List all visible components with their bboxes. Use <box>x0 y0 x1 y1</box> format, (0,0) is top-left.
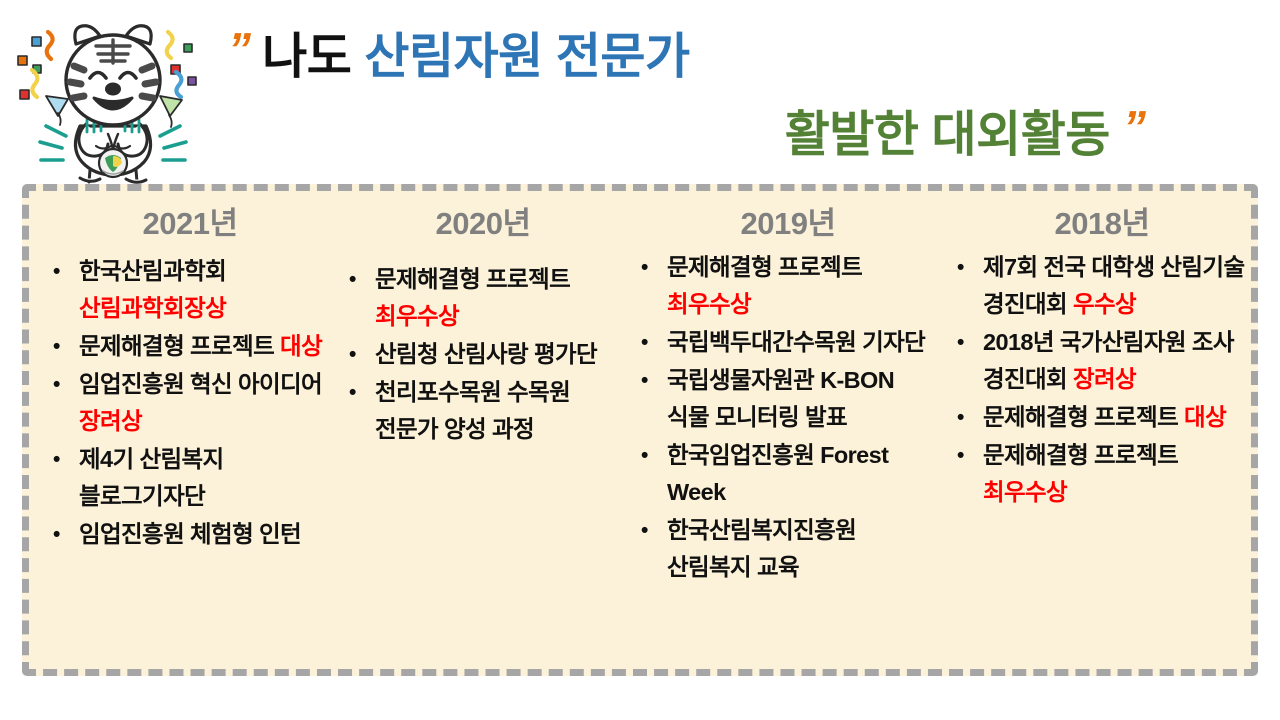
title-highlight-blue: 산림자원 전문가 <box>364 30 689 84</box>
year-column-2019: 2019년 문제해결형 프로젝트 최우수상국립백두대간수목원 기자단국립생물자원… <box>623 205 941 587</box>
achievement-text: 문제해결형 프로젝트 <box>79 333 280 359</box>
achievement-text: 문제해결형 프로젝트 <box>667 254 862 280</box>
celebrating-tiger-mascot-icon <box>8 8 218 188</box>
achievement-list-2019: 문제해결형 프로젝트 최우수상국립백두대간수목원 기자단국립생물자원관 K-BO… <box>635 249 941 586</box>
achievement-text: 문제해결형 프로젝트 <box>983 442 1178 468</box>
achievement-item: 제7회 전국 대학생 산림기술 경진대회 우수상 <box>951 249 1253 323</box>
achievement-text: 문제해결형 프로젝트 <box>983 404 1184 430</box>
achievement-item: 한국산림복지진흥원 산림복지 교육 <box>635 512 941 586</box>
achievement-text: 국립백두대간수목원 기자단 <box>667 329 925 355</box>
title-line-1: ” 나도 산림자원 전문가 <box>222 14 1262 92</box>
award-highlight: 장려상 <box>1073 366 1136 392</box>
award-highlight: 대상 <box>1184 404 1226 430</box>
achievement-list-2021: 한국산림과학회 산림과학회장상문제해결형 프로젝트 대상임업진흥원 혁신 아이디… <box>47 253 333 553</box>
achievement-list-2018: 제7회 전국 대학생 산림기술 경진대회 우수상2018년 국가산림자원 조사 … <box>951 249 1253 511</box>
achievement-item: 국립백두대간수목원 기자단 <box>635 324 941 361</box>
year-column-2020: 2020년 문제해결형 프로젝트 최우수상산림청 산림사랑 평가단천리포수목원 … <box>333 205 623 449</box>
achievement-text: 문제해결형 프로젝트 <box>375 266 570 292</box>
award-highlight: 산림과학회장상 <box>79 295 226 321</box>
year-columns: 2021년 한국산림과학회 산림과학회장상문제해결형 프로젝트 대상임업진흥원 … <box>29 191 1251 669</box>
year-column-2021: 2021년 한국산림과학회 산림과학회장상문제해결형 프로젝트 대상임업진흥원 … <box>33 205 333 554</box>
achievement-text: 산림청 산림사랑 평가단 <box>375 341 597 367</box>
achievement-text: 한국산림과학회 <box>79 258 226 284</box>
achievement-item: 산림청 산림사랑 평가단 <box>343 336 623 373</box>
achievement-item: 문제해결형 프로젝트 최우수상 <box>635 249 941 323</box>
achievement-item: 제4기 산림복지 블로그기자단 <box>47 441 333 515</box>
achievement-text: 임업진흥원 혁신 아이디어 <box>79 371 322 397</box>
achievement-item: 2018년 국가산림자원 조사 경진대회 장려상 <box>951 324 1253 398</box>
award-highlight: 최우수상 <box>667 291 751 317</box>
award-highlight: 최우수상 <box>983 479 1067 505</box>
achievement-item: 임업진흥원 혁신 아이디어 장려상 <box>47 366 333 440</box>
achievement-text: 한국임업진흥원 Forest Week <box>667 442 888 505</box>
achievement-item: 문제해결형 프로젝트 대상 <box>47 328 333 365</box>
achievement-list-2020: 문제해결형 프로젝트 최우수상산림청 산림사랑 평가단천리포수목원 수목원 전문… <box>343 261 623 448</box>
award-highlight: 우수상 <box>1073 291 1136 317</box>
achievement-text: 임업진흥원 체험형 인턴 <box>79 521 301 547</box>
title-line-2: 활발한 대외활동 ” <box>222 92 1262 170</box>
open-quote-mark: ” <box>228 23 249 75</box>
year-column-2018: 2018년 제7회 전국 대학생 산림기술 경진대회 우수상2018년 국가산림… <box>941 205 1253 512</box>
achievement-text: 천리포수목원 수목원 전문가 양성 과정 <box>375 379 570 442</box>
achievement-item: 문제해결형 프로젝트 최우수상 <box>951 437 1253 511</box>
year-heading: 2020년 <box>343 205 623 243</box>
achievement-item: 문제해결형 프로젝트 대상 <box>951 399 1253 436</box>
page-title: ” 나도 산림자원 전문가 활발한 대외활동 ” <box>222 14 1262 179</box>
award-highlight: 장려상 <box>79 408 142 434</box>
award-highlight: 대상 <box>280 333 322 359</box>
achievement-item: 천리포수목원 수목원 전문가 양성 과정 <box>343 374 623 448</box>
achievement-text: 국립생물자원관 K-BON 식물 모니터링 발표 <box>667 367 894 430</box>
title-highlight-green: 활발한 대외활동 <box>785 108 1110 162</box>
achievement-item: 임업진흥원 체험형 인턴 <box>47 516 333 553</box>
year-heading: 2019년 <box>635 205 941 243</box>
achievement-text: 한국산림복지진흥원 산림복지 교육 <box>667 517 856 580</box>
achievements-panel: 2021년 한국산림과학회 산림과학회장상문제해결형 프로젝트 대상임업진흥원 … <box>22 184 1258 676</box>
achievement-item: 한국산림과학회 산림과학회장상 <box>47 253 333 327</box>
award-highlight: 최우수상 <box>375 303 459 329</box>
close-quote-mark: ” <box>1123 101 1144 153</box>
achievement-text: 제4기 산림복지 블로그기자단 <box>79 446 224 509</box>
slide-canvas: ” 나도 산림자원 전문가 활발한 대외활동 ” 2021년 한국산림과학회 산… <box>0 0 1280 720</box>
achievement-item: 문제해결형 프로젝트 최우수상 <box>343 261 623 335</box>
year-heading: 2021년 <box>47 205 333 243</box>
year-heading: 2018년 <box>951 205 1253 243</box>
achievement-item: 국립생물자원관 K-BON 식물 모니터링 발표 <box>635 362 941 436</box>
title-prefix: 나도 <box>262 30 351 84</box>
achievement-item: 한국임업진흥원 Forest Week <box>635 437 941 511</box>
